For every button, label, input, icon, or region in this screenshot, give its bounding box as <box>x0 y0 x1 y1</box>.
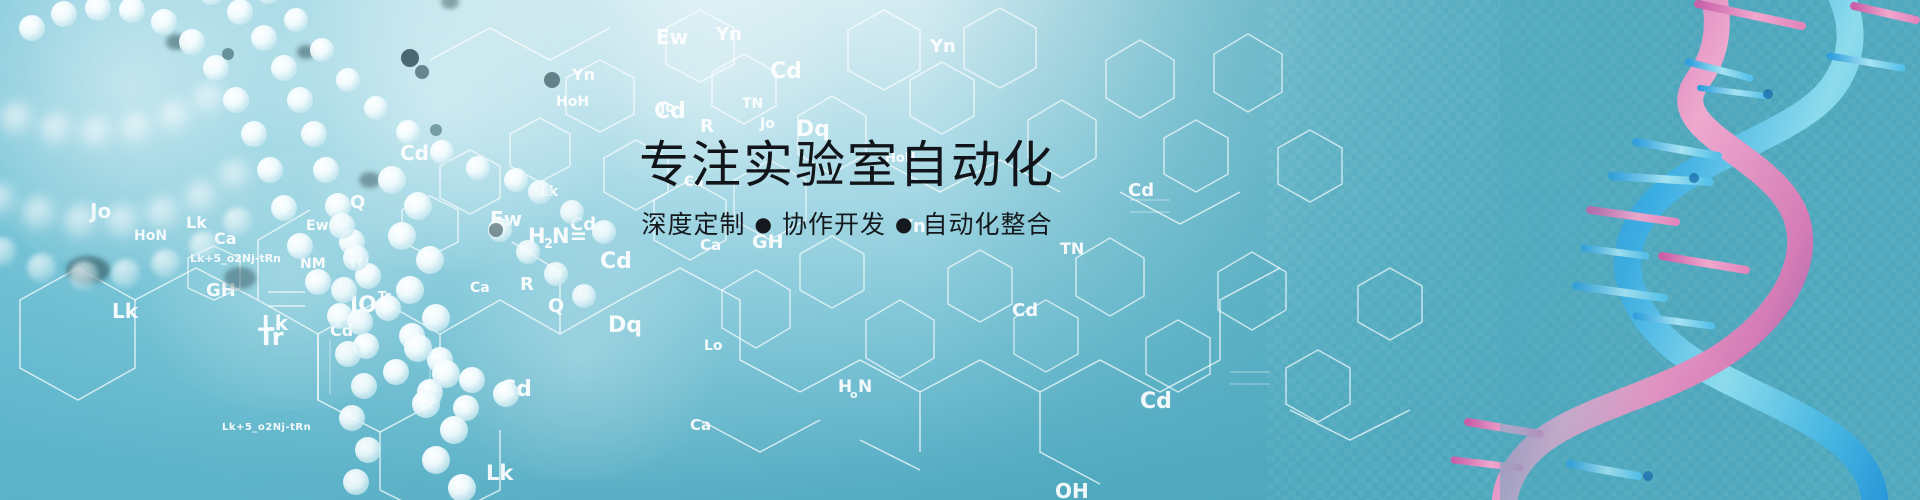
hero-banner: Tr Lk+5_o2Nj-tRn Lk JO Tr H 2 N= Q Ca GH… <box>0 0 1920 500</box>
subtitle-item-3: 自动化整合 <box>922 210 1052 239</box>
checker-texture <box>1267 0 1920 500</box>
bullet-separator-icon: ● <box>886 212 922 236</box>
bullet-separator-icon: ● <box>746 212 782 236</box>
subtitle-item-2: 协作开发 <box>782 210 886 239</box>
page-title: 专注实验室自动化 <box>612 138 1082 192</box>
page-subtitle: 深度定制●协作开发●自动化整合 <box>612 210 1082 240</box>
hero-copy: 专注实验室自动化 深度定制●协作开发●自动化整合 <box>612 138 1082 240</box>
subtitle-item-1: 深度定制 <box>642 210 746 239</box>
